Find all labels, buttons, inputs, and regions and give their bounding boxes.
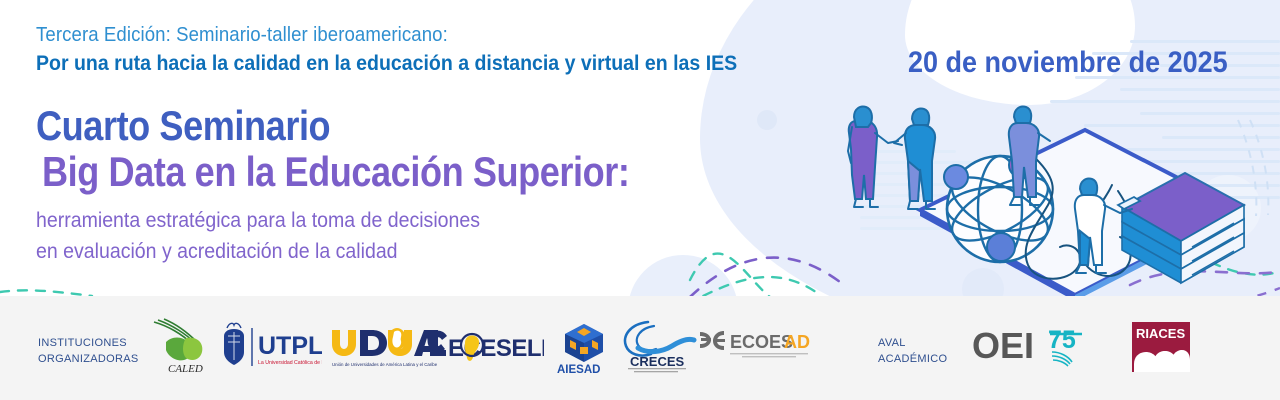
logo-udualc[interactable]: Unión de Universidades de América Latina… [330, 326, 448, 370]
logo-utpl[interactable]: UTPL La Universidad Católica de Loja [216, 320, 322, 374]
oei-anniversary-mark: 75 [1048, 326, 1082, 366]
logo-ecoesad-wordmark-suffix: AD [784, 332, 810, 352]
logo-aiesad[interactable]: AIESAD [555, 322, 613, 376]
logo-oei-wordmark: OEI [972, 325, 1034, 366]
logo-utpl-wordmark: UTPL [258, 332, 322, 360]
utpl-shield-icon [224, 323, 244, 365]
logo-caled-wordmark: CALED [168, 363, 203, 375]
title-line-2: Big Data en la Educación Superior: [42, 150, 690, 195]
logo-oei-anniversary: 75 [1048, 326, 1076, 354]
endorsement-label-line-1: AVAL [878, 336, 947, 352]
event-date: 20 de noviembre de 2025 [908, 46, 1228, 80]
ecoesad-mark-icon [700, 331, 725, 350]
logo-footer: INSTITUCIONES ORGANIZADORAS AVAL ACADÉMI… [0, 296, 1280, 400]
organizers-label-line-1: INSTITUCIONES [38, 336, 138, 352]
organizers-label: INSTITUCIONES ORGANIZADORAS [38, 336, 138, 368]
event-banner: Tercera Edición: Seminario-taller iberoa… [0, 0, 1280, 400]
endorsement-label: AVAL ACADÉMICO [878, 336, 947, 368]
organizers-label-line-2: ORGANIZADORAS [38, 352, 138, 368]
subtitle-line-1: herramienta estratégica para la toma de … [36, 206, 743, 236]
logo-creces[interactable]: CRECES [618, 318, 698, 376]
creces-wave-icon [625, 322, 694, 356]
isometric-illustration: .ln { fill:none; stroke:#1d6ea8; stroke-… [820, 95, 1280, 310]
logo-eceseli[interactable]: ECESELI [448, 328, 544, 368]
logo-oei[interactable]: OEI 75 [972, 322, 1090, 374]
title-line-1: Cuarto Seminario [36, 104, 690, 148]
headline-block: Tercera Edición: Seminario-taller iberoa… [36, 24, 796, 267]
logo-caled[interactable]: CALED [148, 316, 220, 378]
logo-utpl-tagline: La Universidad Católica de Loja [258, 360, 322, 366]
logo-aiesad-wordmark: AIESAD [557, 364, 600, 376]
two-people-handshake [848, 106, 935, 209]
logo-ecoesad-tagline-placeholder [730, 353, 808, 354]
subtitle-line-2: en evaluación y acreditación de la calid… [36, 237, 743, 267]
aiesad-cube-icon [565, 324, 603, 362]
riaces-arches-icon [1134, 350, 1190, 372]
logo-ecoesad[interactable]: ECOES AD [698, 328, 816, 364]
edition-line: Tercera Edición: Seminario-taller iberoa… [36, 24, 743, 47]
logo-riaces[interactable]: RIACES [1132, 322, 1196, 376]
logo-creces-wordmark: CRECES [630, 354, 685, 369]
logo-riaces-wordmark: RIACES [1136, 326, 1185, 341]
tagline: Por una ruta hacia la calidad en la educ… [36, 52, 743, 76]
endorsement-label-line-2: ACADÉMICO [878, 352, 947, 368]
logo-udualc-tagline: Unión de Universidades de América Latina… [332, 362, 438, 367]
